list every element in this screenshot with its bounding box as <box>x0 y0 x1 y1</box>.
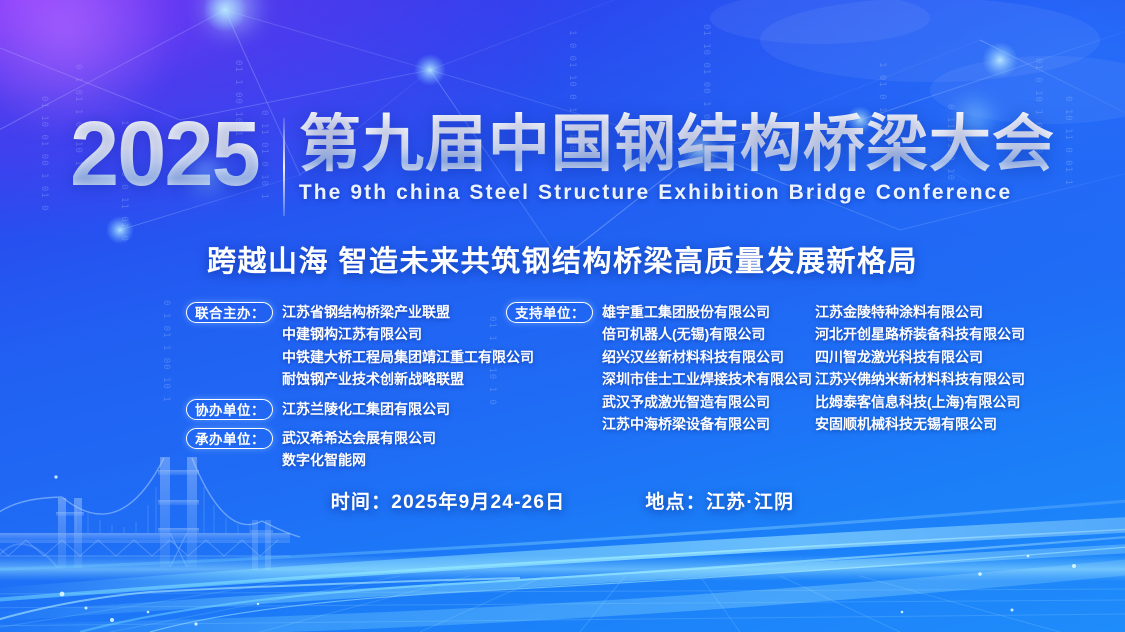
year-2025: 2025 <box>70 112 265 197</box>
organizer-name: 江苏兰陵化工集团有限公司 <box>282 398 450 420</box>
supporter-name: 安固顺机械科技无锡有限公司 <box>815 413 1025 435</box>
supporter-name: 倍可机器人(无锡)有限公司 <box>602 323 812 345</box>
event-meta: 时间：2025年9月24-26日 地点：江苏·江阴 <box>0 487 1125 514</box>
supporter-name: 武汉予成激光智造有限公司 <box>602 391 812 413</box>
supporter-name: 雄宇重工集团股份有限公司 <box>602 301 812 323</box>
supporter-name: 江苏中海桥梁设备有限公司 <box>602 413 812 435</box>
organizer-name: 数字化智能网 <box>282 449 436 471</box>
organizers-block: 联合主办： 江苏省钢结构桥梁产业联盟 中建钢构江苏有限公司 中铁建大桥工程局集团… <box>186 301 1046 449</box>
organizer-name: 武汉希希达会展有限公司 <box>282 427 436 449</box>
organizer-name: 中建钢构江苏有限公司 <box>282 323 534 345</box>
organizer-group-undertakers: 承办单位： 武汉希希达会展有限公司 数字化智能网 <box>186 427 534 472</box>
page-title: 第九届中国钢结构桥梁大会 <box>299 112 1055 177</box>
organizer-group-co-hosts: 联合主办： 江苏省钢结构桥梁产业联盟 中建钢构江苏有限公司 中铁建大桥工程局集团… <box>186 301 534 391</box>
english-subtitle: The 9th china Steel Structure Exhibition… <box>299 181 1055 205</box>
organizers-column-middle: 支持单位： 雄宇重工集团股份有限公司 倍可机器人(无锡)有限公司 绍兴汉丝新材料… <box>506 301 812 435</box>
organizer-name: 江苏省钢结构桥梁产业联盟 <box>282 301 534 323</box>
organizers-column-left: 联合主办： 江苏省钢结构桥梁产业联盟 中建钢构江苏有限公司 中铁建大桥工程局集团… <box>186 301 534 472</box>
supporter-name: 江苏金陵特种涂料有限公司 <box>815 301 1025 323</box>
title-divider <box>283 118 285 216</box>
organizer-group-supporters: 支持单位： 雄宇重工集团股份有限公司 倍可机器人(无锡)有限公司 绍兴汉丝新材料… <box>506 301 812 435</box>
organizers-column-right: 江苏金陵特种涂料有限公司 河北开创星路桥装备科技有限公司 四川智龙激光科技有限公… <box>806 301 1025 435</box>
title-block: 2025 第九届中国钢结构桥梁大会 The 9th china Steel St… <box>0 112 1125 216</box>
label-undertakers: 承办单位： <box>186 428 273 449</box>
label-supporters: 支持单位： <box>506 302 593 323</box>
organizer-group-co-organizers: 协办单位： 江苏兰陵化工集团有限公司 <box>186 398 534 420</box>
supporter-name: 四川智龙激光科技有限公司 <box>815 346 1025 368</box>
conference-banner: 01 10 01 00 1 01 0 0 1 01 1 00 10 1 1 0 … <box>0 0 1125 632</box>
tagline: 跨越山海 智造未来共筑钢结构桥梁高质量发展新格局 <box>0 238 1125 280</box>
supporter-name: 绍兴汉丝新材料科技有限公司 <box>602 346 812 368</box>
supporter-name: 深圳市佳士工业焊接技术有限公司 <box>602 368 812 390</box>
label-co-hosts: 联合主办： <box>186 302 273 323</box>
supporter-name: 江苏兴佛纳米新材料科技有限公司 <box>815 368 1025 390</box>
event-location: 地点：江苏·江阴 <box>645 487 794 514</box>
banner-content: 2025 第九届中国钢结构桥梁大会 The 9th china Steel St… <box>0 0 1125 632</box>
supporter-name: 比姆泰客信息科技(上海)有限公司 <box>815 391 1025 413</box>
supporter-name: 河北开创星路桥装备科技有限公司 <box>815 323 1025 345</box>
organizer-name: 耐蚀钢产业技术创新战略联盟 <box>282 368 534 390</box>
organizer-name: 中铁建大桥工程局集团靖江重工有限公司 <box>282 346 534 368</box>
event-date: 时间：2025年9月24-26日 <box>331 487 566 514</box>
label-co-organizers: 协办单位： <box>186 399 273 420</box>
